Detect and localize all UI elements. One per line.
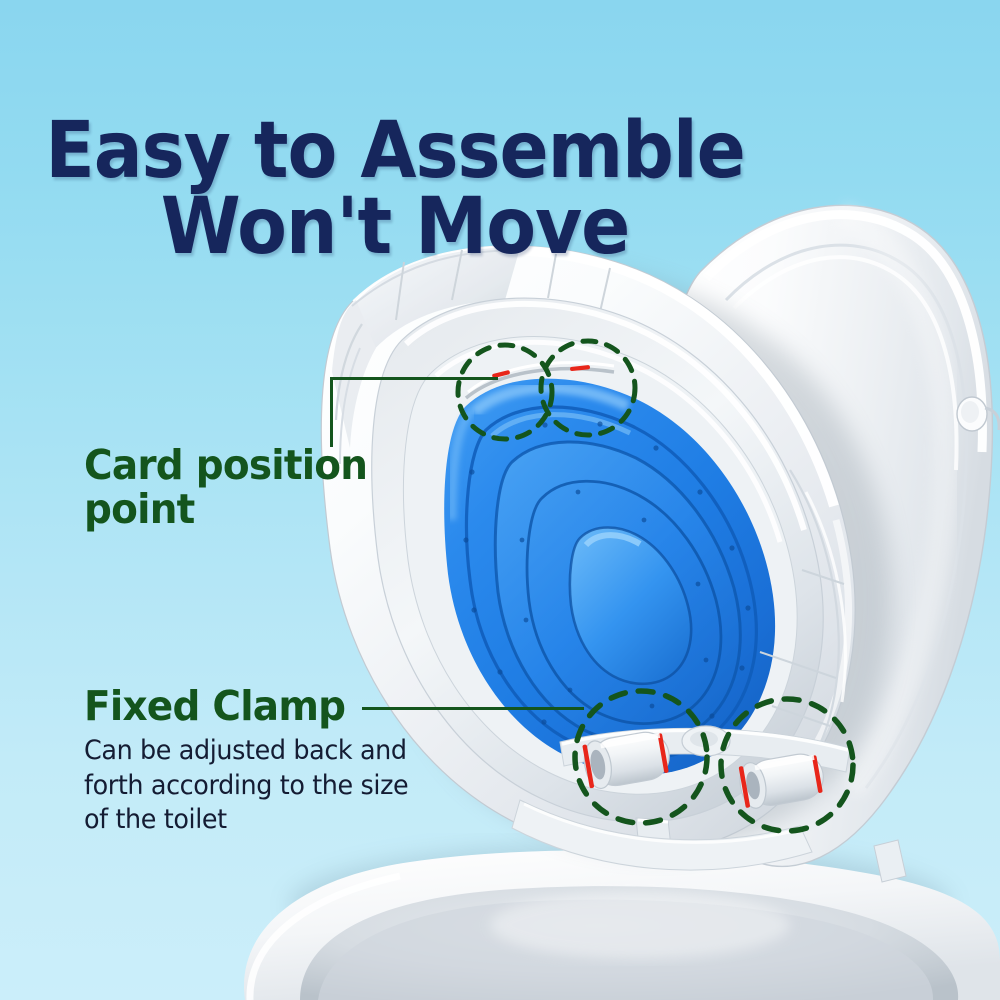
clamp-centre-pivot [682, 726, 730, 756]
callout-card-position-point: Card position point [84, 443, 382, 532]
callout-fixed-clamp-title: Fixed Clamp [84, 684, 405, 728]
callout-card-position-title: Card position point [84, 443, 367, 532]
page-title: Easy to Assemble Won't Move [28, 114, 763, 265]
leader-line-card-position-horizontal [330, 377, 498, 380]
callout-fixed-clamp-body: Can be adjusted back and forth according… [84, 734, 408, 837]
headline-line-2: Won't Move [28, 190, 763, 266]
callout-fixed-clamp: Fixed Clamp Can be adjusted back and for… [84, 684, 422, 838]
product-infographic-poster: Easy to Assemble Won't Move Card positio… [0, 0, 1000, 1000]
leader-line-card-position-vertical [330, 377, 333, 447]
